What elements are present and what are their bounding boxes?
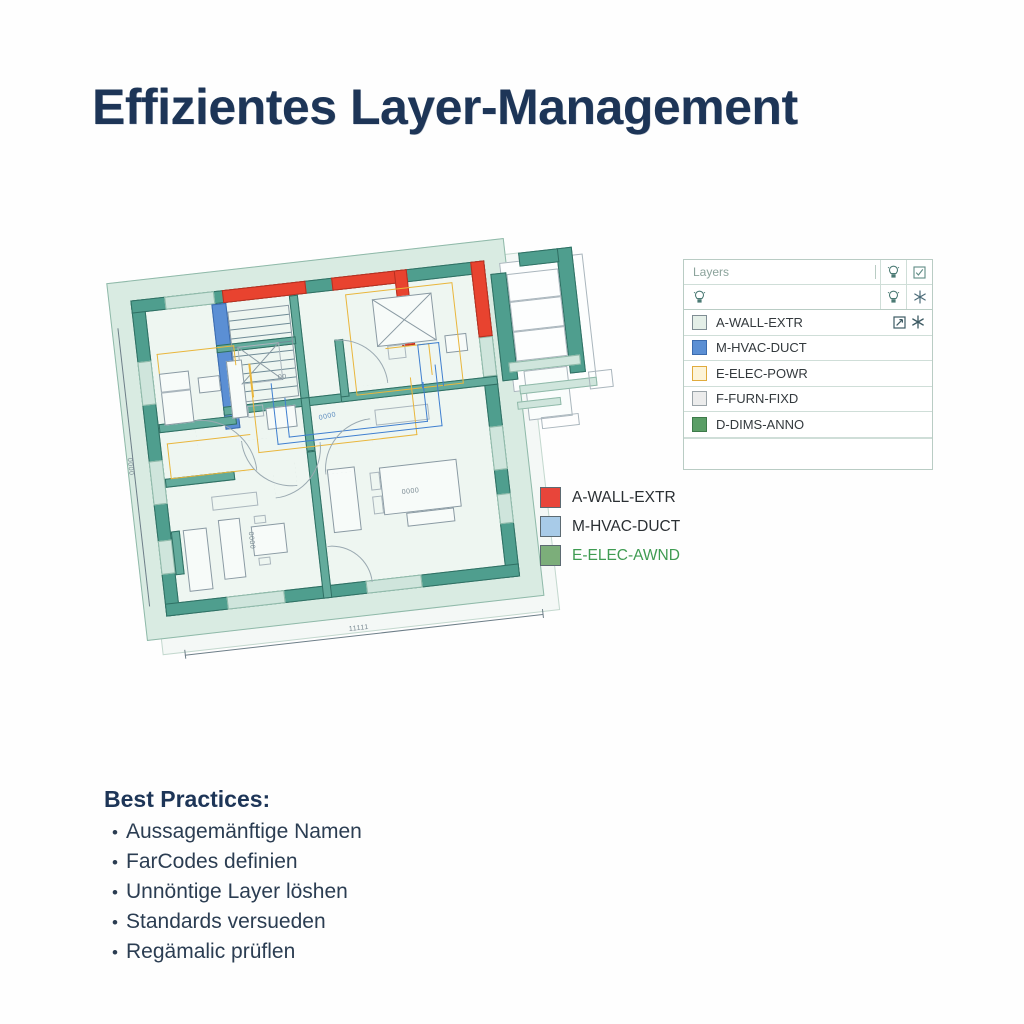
best-practice-label: Unnöntige Layer löshen: [126, 877, 348, 907]
layer-name: D-DIMS-ANNO: [716, 417, 932, 432]
furniture-chair-2: [258, 556, 271, 565]
layer-swatch[interactable]: [692, 391, 707, 406]
legend-label-e-elec-awnd: E-ELEC-AWND: [572, 547, 680, 565]
furniture-table-left: [198, 375, 222, 393]
checkbox-icon[interactable]: [906, 260, 932, 284]
furniture-nightstand-1: [369, 472, 381, 491]
legend-item: E-ELEC-AWND: [540, 541, 740, 570]
header-divider: [875, 265, 876, 279]
layer-row-f-furn-fixd[interactable]: F-FURN-FIXD: [684, 387, 932, 413]
layer-row-d-dims-anno[interactable]: D-DIMS-ANNO: [684, 412, 932, 438]
best-practice-label: Aussagemänftige Namen: [126, 817, 362, 847]
layers-panel-title: Layers: [684, 265, 875, 279]
detail-section-drawing: [469, 229, 661, 447]
best-practice-item: • FarCodes definien: [104, 847, 604, 877]
best-practice-label: Regämalic prüflen: [126, 937, 295, 967]
furniture-nightstand-2: [372, 495, 384, 514]
legend-label-a-wall-extr: A-WALL-EXTR: [572, 489, 676, 507]
furniture-chair-1: [254, 515, 267, 524]
legend-item: M-HVAC-DUCT: [540, 512, 740, 541]
snowflake-icon[interactable]: [911, 315, 925, 329]
layer-name: F-FURN-FIXD: [716, 391, 932, 406]
detail-bracket: [588, 369, 614, 390]
best-practices-heading: Best Practices:: [104, 786, 604, 813]
layer-row-e-elec-powr[interactable]: E-ELEC-POWR: [684, 361, 932, 387]
layer-swatch[interactable]: [692, 366, 707, 381]
lightbulb-icon[interactable]: [880, 285, 906, 309]
furniture-cabinet-left: [159, 371, 195, 426]
checkbox-arrow-icon[interactable]: [893, 316, 906, 329]
lightbulb-icon[interactable]: [684, 285, 714, 309]
layers-panel-header: Layers: [684, 260, 932, 285]
layers-panel-toolbar: [684, 285, 932, 310]
bullet-icon: •: [112, 884, 126, 901]
layer-name: A-WALL-EXTR: [716, 315, 893, 330]
layers-panel-empty-area[interactable]: [684, 438, 932, 469]
layer-swatch[interactable]: [692, 417, 707, 432]
best-practice-label: FarCodes definien: [126, 847, 298, 877]
best-practice-item: • Aussagemänftige Namen: [104, 817, 604, 847]
layer-row-a-wall-extr[interactable]: A-WALL-EXTR: [684, 310, 932, 336]
best-practice-item: • Regämalic prüflen: [104, 937, 604, 967]
bullet-icon: •: [112, 944, 126, 961]
bullet-icon: •: [112, 824, 126, 841]
layer-swatch[interactable]: [692, 315, 707, 330]
best-practice-item: • Unnöntige Layer löshen: [104, 877, 604, 907]
legend-item: A-WALL-EXTR: [540, 483, 740, 512]
layer-swatch[interactable]: [692, 340, 707, 355]
bullet-icon: •: [112, 914, 126, 931]
layer-name: M-HVAC-DUCT: [716, 340, 932, 355]
snowflake-icon[interactable]: [906, 285, 932, 309]
layer-row-m-hvac-duct[interactable]: M-HVAC-DUCT: [684, 336, 932, 362]
stair-direction-arrow: [237, 342, 283, 385]
plan-legend: A-WALL-EXTR M-HVAC-DUCT E-ELEC-AWND: [540, 483, 740, 570]
legend-swatch-e-elec-awnd: [540, 545, 561, 566]
layer-row-icons: [893, 315, 932, 329]
legend-swatch-a-wall-extr: [540, 487, 561, 508]
best-practices-section: Best Practices: • Aussagemänftige Namen …: [104, 786, 604, 967]
detail-lower-body: [523, 366, 572, 421]
lightbulb-icon[interactable]: [880, 260, 906, 284]
page-title: Effizientes Layer-Management: [92, 78, 798, 136]
layers-panel[interactable]: Layers: [683, 259, 933, 470]
legend-swatch-m-hvac-duct: [540, 516, 561, 537]
best-practice-label: Standards versueden: [126, 907, 326, 937]
layer-name: E-ELEC-POWR: [716, 366, 932, 381]
bullet-icon: •: [112, 854, 126, 871]
annotation-room-1: 00: [278, 373, 288, 381]
legend-label-m-hvac-duct: M-HVAC-DUCT: [572, 518, 680, 536]
best-practice-item: • Standards versueden: [104, 907, 604, 937]
